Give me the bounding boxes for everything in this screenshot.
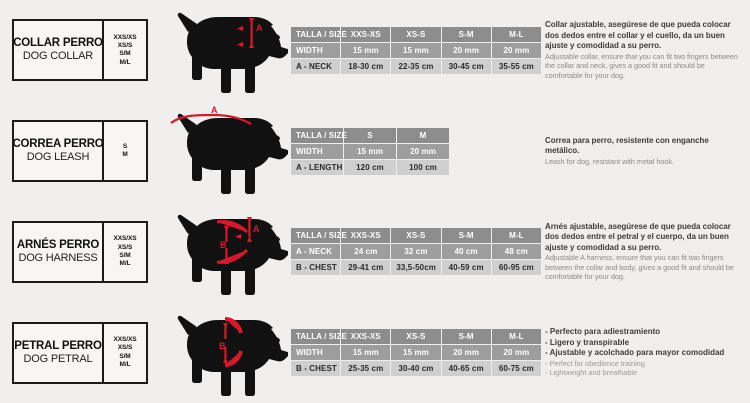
table-row: WIDTH 15 mm 20 mm (291, 143, 450, 159)
description-es: Collar ajustable, asegúrese de que pueda… (545, 20, 744, 52)
size-list: XXS/XS XS/S S/M M/L (104, 21, 146, 79)
description-es: Correa para perro, resistente con enganc… (545, 136, 744, 157)
product-name-group: ARNÉS PERRO DOG HARNESS (14, 223, 104, 281)
label-box: CORREA PERRO DOG LEASH S M (12, 120, 148, 182)
table-cell: 15 mm (341, 42, 391, 58)
row-label: WIDTH (291, 42, 341, 58)
description-en: Adjustable collar, ensure that you can f… (545, 52, 744, 81)
table-row: B - CHEST 29-41 cm 33,5-50cm 40-59 cm 60… (291, 260, 542, 276)
size-option: S/M (119, 252, 130, 260)
table-cell: 20 mm (491, 42, 541, 58)
row-label: A - NECK (291, 244, 341, 260)
header-cell: S (344, 127, 397, 143)
size-chart-sheet: COLLAR PERRO DOG COLLAR XXS/XS XS/S S/M … (0, 0, 750, 403)
table-cell: 32 cm (391, 244, 441, 260)
table-row: WIDTH 15 mm 15 mm 20 mm 20 mm (291, 345, 542, 361)
size-option: S/M (119, 353, 130, 361)
header-cell: XXS-XS (341, 26, 391, 42)
label-box: PETRAL PERRO DOG PETRAL XXS/XS XS/S S/M … (12, 322, 148, 384)
table-cell: 30-45 cm (441, 58, 491, 74)
table-cell: 30-40 cm (391, 361, 441, 377)
dog-silhouette-icon: A (163, 105, 288, 197)
marker-label-b: B (219, 341, 226, 351)
size-list: XXS/XS XS/S S/M M/L (104, 324, 146, 382)
description-en: Leash for dog, resistant with metal hook… (545, 157, 744, 167)
size-option: XXS/XS (114, 34, 137, 42)
header-cell: XXS-XS (341, 329, 391, 345)
table-block-dog-collar: TALLA / SIZE XXS-XS XS-S S-M M-L WIDTH 1… (290, 26, 545, 75)
product-name-es: PETRAL PERRO (14, 340, 101, 353)
product-name-en: DOG LEASH (27, 151, 89, 164)
header-cell: S-M (441, 228, 491, 244)
marker-label-b: B (220, 240, 227, 250)
table-cell: 15 mm (344, 143, 397, 159)
feature-item-en: - Perfect for obedience training (545, 359, 744, 369)
table-block-dog-leash: TALLA / SIZE S M WIDTH 15 mm 20 mm A - L… (290, 127, 545, 176)
table-row: A - LENGTH 120 cm 100 cm (291, 159, 450, 175)
product-name-en: DOG COLLAR (23, 50, 93, 63)
table-cell: 48 cm (491, 244, 541, 260)
header-cell: XS-S (391, 26, 441, 42)
feature-item-es: - Perfecto para adiestramiento (545, 327, 744, 338)
size-list: S M (104, 122, 146, 180)
header-cell: M-L (491, 26, 541, 42)
product-row-dog-collar: COLLAR PERRO DOG COLLAR XXS/XS XS/S S/M … (0, 0, 750, 101)
row-label: A - NECK (291, 58, 341, 74)
product-name-es: CORREA PERRO (12, 138, 103, 151)
header-cell: TALLA / SIZE (291, 329, 341, 345)
size-option: M (122, 151, 127, 159)
table-block-dog-petral: TALLA / SIZE XXS-XS XS-S S-M M-L WIDTH 1… (290, 328, 545, 377)
marker-label-a: A (211, 105, 218, 115)
product-name-group: COLLAR PERRO DOG COLLAR (14, 21, 104, 79)
label-block-dog-collar: COLLAR PERRO DOG COLLAR XXS/XS XS/S S/M … (0, 19, 160, 81)
size-option: XS/S (118, 244, 132, 252)
size-option: S (123, 143, 127, 151)
product-name-es: ARNÉS PERRO (17, 239, 99, 252)
description-en: Adjustable A harness, ensure that you ca… (545, 253, 744, 282)
row-label: B - CHEST (291, 260, 341, 276)
size-list: XXS/XS XS/S S/M M/L (104, 223, 146, 281)
marker-label-a: A (253, 224, 260, 234)
header-cell: TALLA / SIZE (291, 127, 344, 143)
dog-silhouette-icon: A B (163, 206, 288, 298)
product-row-dog-leash: CORREA PERRO DOG LEASH S M A T (0, 101, 750, 202)
row-label: B - CHEST (291, 361, 341, 377)
size-table: TALLA / SIZE XXS-XS XS-S S-M M-L A - NEC… (290, 227, 542, 276)
table-cell: 40 cm (441, 244, 491, 260)
table-row: B - CHEST 25-35 cm 30-40 cm 40-65 cm 60-… (291, 361, 542, 377)
illustration-dog-leash: A (160, 105, 290, 197)
header-cell: S-M (441, 26, 491, 42)
description-dog-petral: - Perfecto para adiestramiento - Ligero … (545, 327, 750, 378)
label-box: COLLAR PERRO DOG COLLAR XXS/XS XS/S S/M … (12, 19, 148, 81)
header-cell: S-M (441, 329, 491, 345)
label-block-dog-harness: ARNÉS PERRO DOG HARNESS XXS/XS XS/S S/M … (0, 221, 160, 283)
table-cell: 120 cm (344, 159, 397, 175)
dog-silhouette-icon: B (163, 307, 288, 399)
table-cell: 100 cm (397, 159, 450, 175)
row-label: A - LENGTH (291, 159, 344, 175)
table-header-row: TALLA / SIZE XXS-XS XS-S S-M M-L (291, 329, 542, 345)
table-header-row: TALLA / SIZE XXS-XS XS-S S-M M-L (291, 228, 542, 244)
header-cell: XS-S (391, 228, 441, 244)
size-table: TALLA / SIZE XXS-XS XS-S S-M M-L WIDTH 1… (290, 26, 542, 75)
product-name-group: CORREA PERRO DOG LEASH (14, 122, 104, 180)
table-cell: 24 cm (341, 244, 391, 260)
product-name-en: DOG HARNESS (18, 252, 97, 265)
size-option: XS/S (118, 344, 132, 352)
header-cell: XXS-XS (341, 228, 391, 244)
row-label: WIDTH (291, 345, 341, 361)
size-option: S/M (119, 50, 130, 58)
table-cell: 33,5-50cm (391, 260, 441, 276)
dog-silhouette-icon: A (163, 4, 288, 96)
header-cell: TALLA / SIZE (291, 228, 341, 244)
table-row: A - NECK 24 cm 32 cm 40 cm 48 cm (291, 244, 542, 260)
product-name-group: PETRAL PERRO DOG PETRAL (14, 324, 104, 382)
table-header-row: TALLA / SIZE S M (291, 127, 450, 143)
size-table: TALLA / SIZE S M WIDTH 15 mm 20 mm A - L… (290, 127, 450, 176)
table-cell: 22-35 cm (391, 58, 441, 74)
table-cell: 15 mm (391, 42, 441, 58)
table-cell: 20 mm (441, 42, 491, 58)
illustration-dog-collar: A (160, 4, 290, 96)
table-cell: 40-59 cm (441, 260, 491, 276)
description-dog-collar: Collar ajustable, asegúrese de que pueda… (545, 20, 750, 80)
table-cell: 20 mm (441, 345, 491, 361)
table-row: A - NECK 18-30 cm 22-35 cm 30-45 cm 35-5… (291, 58, 542, 74)
table-cell: 20 mm (397, 143, 450, 159)
table-cell: 60-95 cm (491, 260, 541, 276)
table-cell: 40-65 cm (441, 361, 491, 377)
description-dog-harness: Arnés ajustable, asegúrese de que pueda … (545, 222, 750, 282)
size-table: TALLA / SIZE XXS-XS XS-S S-M M-L WIDTH 1… (290, 328, 542, 377)
table-cell: 20 mm (491, 345, 541, 361)
table-block-dog-harness: TALLA / SIZE XXS-XS XS-S S-M M-L A - NEC… (290, 227, 545, 276)
feature-item-es: - Ajustable y acolchado para mayor comod… (545, 348, 744, 359)
size-option: M/L (120, 59, 131, 67)
table-cell: 35-55 cm (491, 58, 541, 74)
label-block-dog-leash: CORREA PERRO DOG LEASH S M (0, 120, 160, 182)
header-cell: M (397, 127, 450, 143)
header-cell: TALLA / SIZE (291, 26, 341, 42)
table-cell: 25-35 cm (341, 361, 391, 377)
product-row-dog-petral: PETRAL PERRO DOG PETRAL XXS/XS XS/S S/M … (0, 302, 750, 403)
size-option: XXS/XS (114, 336, 137, 344)
feature-list: - Perfecto para adiestramiento - Ligero … (545, 327, 744, 378)
table-cell: 29-41 cm (341, 260, 391, 276)
label-block-dog-petral: PETRAL PERRO DOG PETRAL XXS/XS XS/S S/M … (0, 322, 160, 384)
table-cell: 15 mm (391, 345, 441, 361)
size-option: XS/S (118, 42, 132, 50)
size-option: M/L (120, 361, 131, 369)
table-row: WIDTH 15 mm 15 mm 20 mm 20 mm (291, 42, 542, 58)
description-dog-leash: Correa para perro, resistente con enganc… (545, 136, 750, 167)
table-cell: 15 mm (341, 345, 391, 361)
label-box: ARNÉS PERRO DOG HARNESS XXS/XS XS/S S/M … (12, 221, 148, 283)
table-cell: 60-75 cm (491, 361, 541, 377)
description-es: Arnés ajustable, asegúrese de que pueda … (545, 222, 744, 254)
feature-item-es: - Ligero y transpirable (545, 338, 744, 349)
table-cell: 18-30 cm (341, 58, 391, 74)
product-row-dog-harness: ARNÉS PERRO DOG HARNESS XXS/XS XS/S S/M … (0, 202, 750, 303)
product-name-en: DOG PETRAL (24, 353, 93, 366)
product-name-es: COLLAR PERRO (13, 37, 103, 50)
marker-label-a: A (256, 23, 263, 33)
illustration-dog-harness: A B (160, 206, 290, 298)
header-cell: M-L (491, 329, 541, 345)
header-cell: M-L (491, 228, 541, 244)
row-label: WIDTH (291, 143, 344, 159)
feature-item-en: - Lightweight and breathable (545, 368, 744, 378)
illustration-dog-petral: B (160, 307, 290, 399)
size-option: M/L (120, 260, 131, 268)
size-option: XXS/XS (114, 235, 137, 243)
table-header-row: TALLA / SIZE XXS-XS XS-S S-M M-L (291, 26, 542, 42)
header-cell: XS-S (391, 329, 441, 345)
